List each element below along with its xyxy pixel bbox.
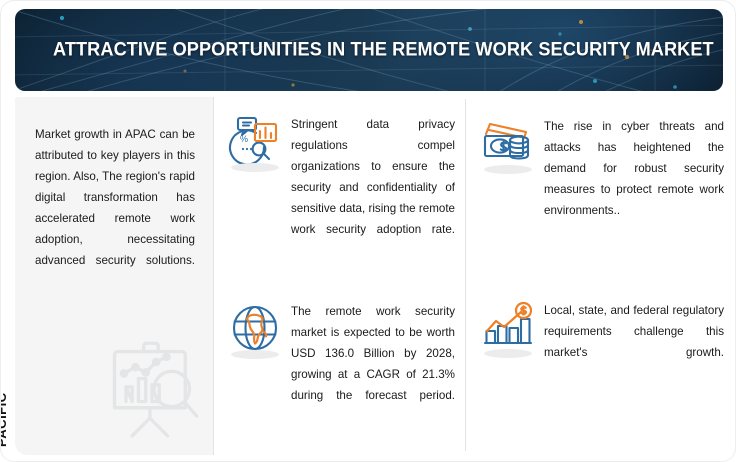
card-text: Stringent data privacy regulations compe…: [291, 113, 455, 261]
card-text: The rise in cyber threats and attacks ha…: [544, 115, 724, 242]
money-coins-icon: [480, 115, 536, 171]
presentation-chart-magnifier-icon: [101, 337, 205, 441]
card-regulatory-requirements: Local, state, and federal regulatory req…: [480, 299, 724, 384]
data-analytics-search-icon: %: [227, 113, 283, 169]
left-region-panel: Market growth in APAC can be attributed …: [15, 97, 213, 455]
left-panel-body-text: Market growth in APAC can be attributed …: [35, 124, 195, 292]
page-title: ATTRACTIVE OPPORTUNITIES IN THE REMOTE W…: [53, 39, 714, 62]
card-icon-wrapper: [480, 299, 536, 355]
card-text: The remote work security market is expec…: [291, 300, 455, 427]
infographic-container: ATTRACTIVE OPPORTUNITIES IN THE REMOTE W…: [0, 0, 736, 462]
icon-shadow: [231, 350, 279, 359]
card-icon-wrapper: %: [227, 113, 283, 169]
icon-shadow: [231, 163, 279, 172]
card-data-privacy-regulations: % Stringent data privacy regulations com…: [227, 113, 455, 261]
region-label-asia-pacific: ASIA PACIFIC: [0, 337, 9, 447]
card-icon-wrapper: [227, 300, 283, 356]
divider-left-middle: [213, 97, 214, 455]
globe-icon: [227, 300, 283, 356]
card-market-forecast: The remote work security market is expec…: [227, 300, 455, 427]
svg-text:%: %: [240, 134, 248, 144]
icon-shadow: [484, 165, 532, 174]
icon-shadow: [484, 349, 532, 358]
card-cyber-threats-demand: The rise in cyber threats and attacks ha…: [480, 115, 724, 242]
divider-middle-right: [465, 99, 466, 451]
header-banner: ATTRACTIVE OPPORTUNITIES IN THE REMOTE W…: [15, 9, 723, 91]
card-text: Local, state, and federal regulatory req…: [544, 299, 724, 384]
bar-chart-growth-dollar-icon: [480, 299, 536, 355]
card-icon-wrapper: [480, 115, 536, 171]
